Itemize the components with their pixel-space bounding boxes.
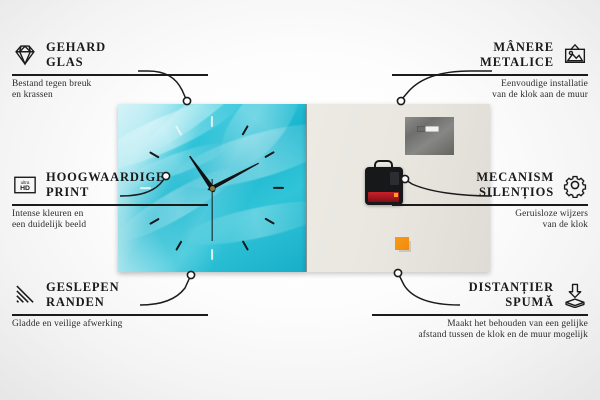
divider (12, 204, 208, 206)
diamond-icon (12, 42, 38, 68)
svg-text:HD: HD (20, 185, 30, 192)
feature-title: MECANISMSILENȚIOS (476, 170, 554, 200)
gear-icon (562, 172, 588, 198)
infographic-canvas: GEHARDGLAS Bestand tegen breuken krassen… (0, 0, 600, 400)
diagonal-lines-icon (12, 282, 38, 308)
feature-subtitle: Gladde en veilige afwerking (12, 319, 208, 331)
divider (392, 74, 588, 76)
feature-subtitle: Geruisloze wijzersvan de klok (392, 209, 588, 232)
feature-gehard-glas: GEHARDGLAS Bestand tegen breuken krassen (12, 38, 208, 102)
feature-geslepen-randen: GESLEPENRANDEN Gladde en veilige afwerki… (12, 278, 208, 330)
hanger-loop-icon (374, 160, 393, 170)
clock-second-hand (211, 188, 212, 250)
metal-hanger-plate (405, 117, 454, 155)
feature-title: MÂNEREMETALICE (480, 40, 554, 70)
svg-text:ultra: ultra (21, 180, 30, 185)
clock-center-cap (210, 186, 215, 191)
foam-spacer (395, 237, 409, 250)
feature-subtitle: Bestand tegen breuken krassen (12, 79, 208, 102)
feature-title: HOOGWAARDIGEPRINT (46, 170, 165, 200)
arrow-press-pad-icon (562, 282, 588, 308)
picture-frame-icon (562, 42, 588, 68)
divider (372, 314, 588, 316)
feature-distantier-spuma: DISTANȚIERSPUMĂ Maakt het behouden van e… (372, 278, 588, 341)
feature-subtitle: Intense kleuren eneen duidelijk beeld (12, 209, 208, 232)
clock-minute-hand (212, 161, 265, 192)
ultra-hd-icon: ultra HD (12, 172, 38, 198)
feature-mecanism-silentios: MECANISMSILENȚIOS Geruisloze wijzersvan … (392, 168, 588, 232)
feature-manere-metalice: MÂNEREMETALICE Eenvoudige installatievan… (392, 38, 588, 102)
feature-hoogwaardige-print: ultra HD HOOGWAARDIGEPRINT Intense kleur… (12, 168, 208, 232)
feature-subtitle: Maakt het behouden van een gelijkeafstan… (372, 319, 588, 342)
divider (12, 314, 208, 316)
feature-title: GEHARDGLAS (46, 40, 106, 70)
divider (392, 204, 588, 206)
feature-subtitle: Eenvoudige installatievan de klok aan de… (392, 79, 588, 102)
feature-title: DISTANȚIERSPUMĂ (469, 280, 554, 310)
divider (12, 74, 208, 76)
feature-title: GESLEPENRANDEN (46, 280, 120, 310)
